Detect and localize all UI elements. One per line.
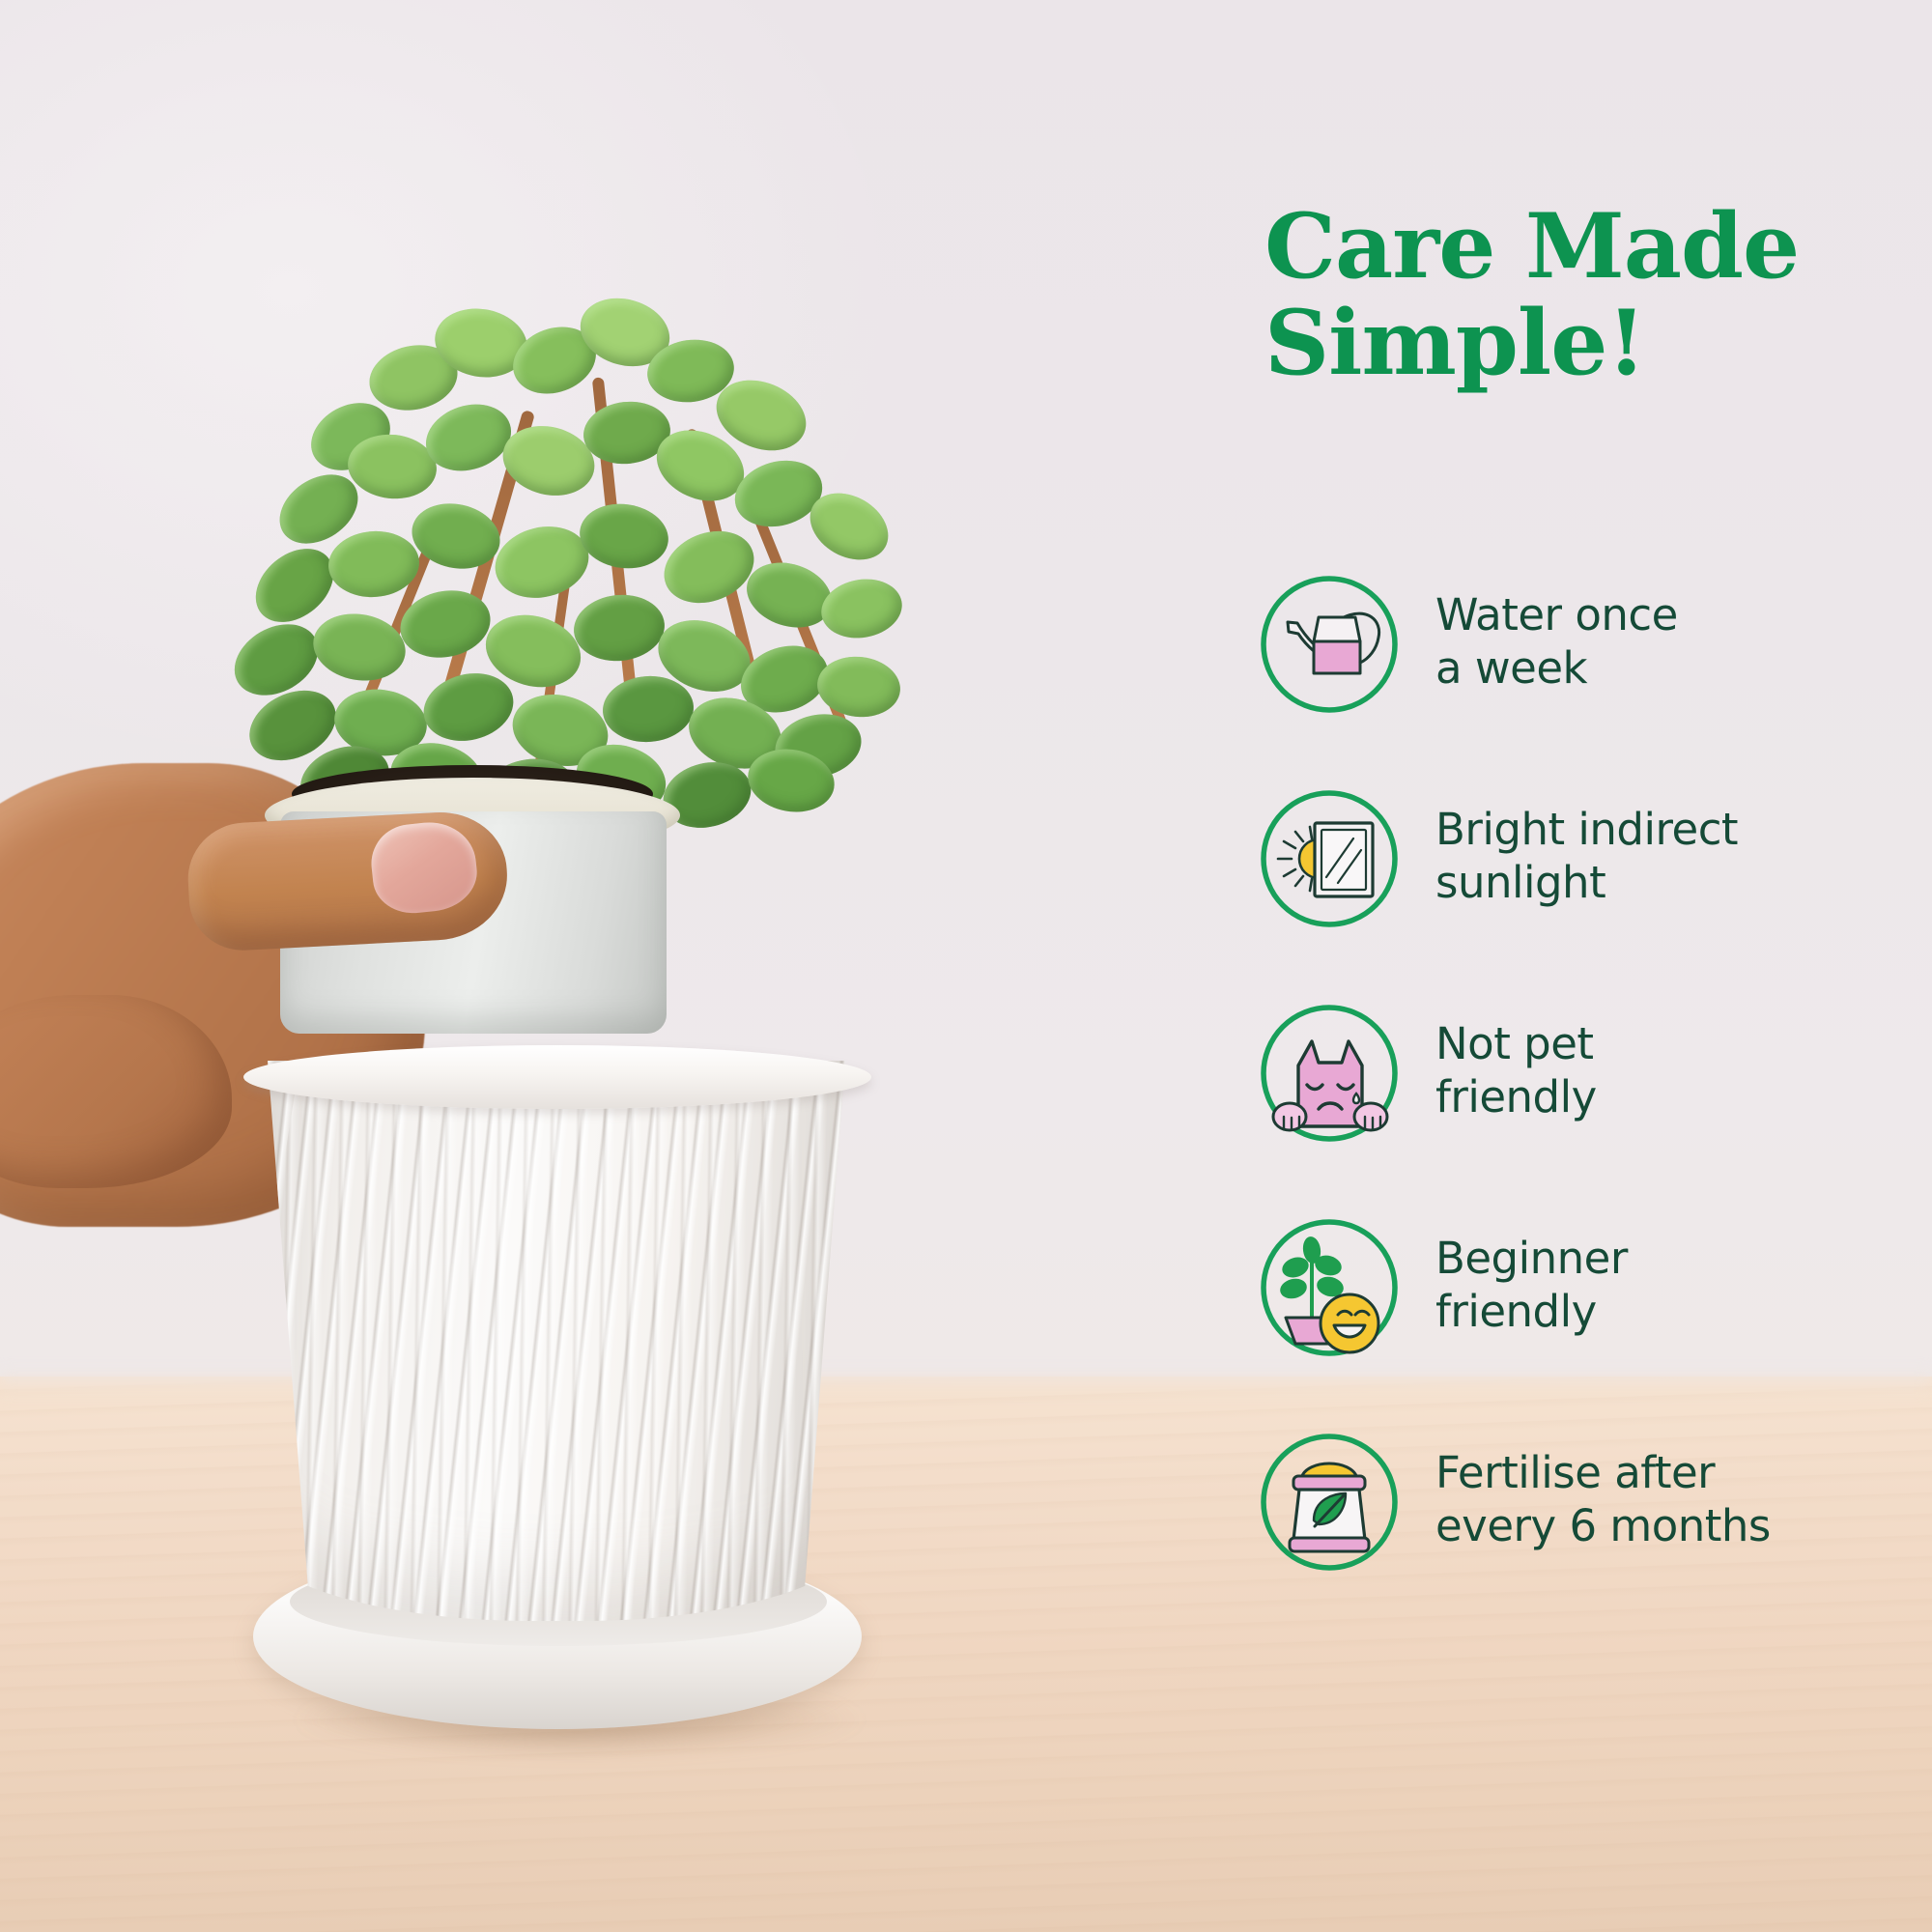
sad-cat-icon	[1259, 1003, 1400, 1144]
plant-product-photo	[0, 0, 966, 1932]
planter-rim	[243, 1045, 871, 1109]
care-made-simple-banner: Care Made Simple! Water once a week	[0, 0, 1932, 1932]
white-ribbed-planter	[249, 1061, 864, 1621]
page-title: Care Made Simple!	[1264, 198, 1902, 392]
care-item-label: Bright indirect sunlight	[1435, 804, 1738, 910]
care-list: Water once a week	[1241, 574, 1932, 1646]
care-item-label: Beginner friendly	[1435, 1233, 1628, 1339]
care-item-pet: Not pet friendly	[1241, 1003, 1932, 1217]
care-item-water: Water once a week	[1241, 574, 1932, 788]
watering-can-icon	[1259, 574, 1400, 715]
care-item-beginner: Beginner friendly	[1241, 1217, 1932, 1432]
care-item-light: Bright indirect sunlight	[1241, 788, 1932, 1003]
planter-ribs-secondary	[249, 1061, 864, 1621]
care-item-label: Not pet friendly	[1435, 1018, 1597, 1124]
care-item-fertilise: Fertilise after every 6 months	[1241, 1432, 1932, 1646]
sun-window-icon	[1259, 788, 1400, 929]
fertiliser-bag-icon	[1259, 1432, 1400, 1573]
care-item-label: Water once a week	[1435, 589, 1678, 696]
care-panel: Care Made Simple! Water once a week	[1241, 0, 1932, 1932]
jade-plant-foliage	[193, 290, 850, 811]
care-item-label: Fertilise after every 6 months	[1435, 1447, 1771, 1553]
plant-smiley-icon	[1259, 1217, 1400, 1358]
